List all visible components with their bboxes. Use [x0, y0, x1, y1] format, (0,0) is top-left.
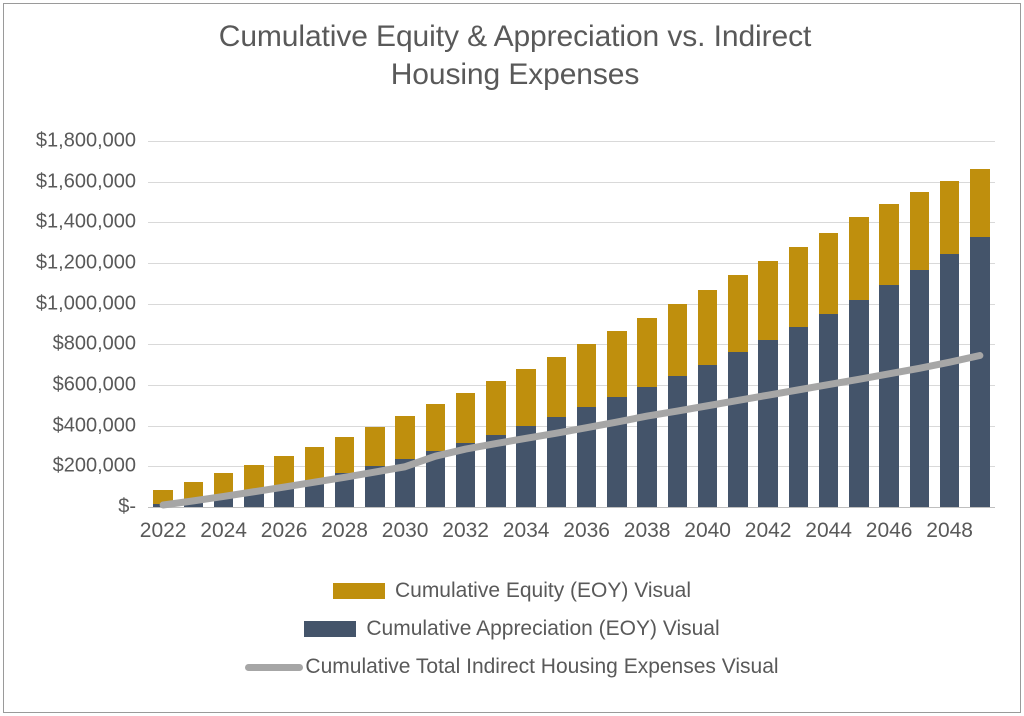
y-axis-tick-label: $- — [0, 496, 136, 519]
y-axis: $-$200,000$400,000$600,000$800,000$1,000… — [0, 141, 136, 507]
y-axis-tick-label: $600,000 — [0, 374, 136, 397]
x-axis-tick-label: 2044 — [805, 519, 852, 543]
x-axis-tick-label: 2032 — [442, 519, 489, 543]
x-axis-tick-label: 2034 — [503, 519, 550, 543]
y-axis-tick-label: $800,000 — [0, 333, 136, 356]
gridline — [148, 507, 995, 508]
plot-area — [148, 141, 995, 507]
legend-item[interactable]: Cumulative Appreciation (EOY) Visual — [0, 610, 1024, 648]
x-axis-tick-label: 2024 — [200, 519, 247, 543]
x-axis-tick-label: 2030 — [382, 519, 429, 543]
x-axis-tick-label: 2042 — [745, 519, 792, 543]
expense-line[interactable] — [163, 356, 980, 505]
chart-legend: Cumulative Equity (EOY) VisualCumulative… — [0, 572, 1024, 686]
y-axis-tick-label: $1,400,000 — [0, 211, 136, 234]
x-axis-tick-label: 2038 — [624, 519, 671, 543]
x-axis: 2022202420262028203020322034203620382040… — [148, 519, 995, 553]
x-axis-tick-label: 2046 — [866, 519, 913, 543]
y-axis-tick-label: $1,000,000 — [0, 292, 136, 315]
legend-color-swatch-icon — [304, 621, 356, 637]
y-axis-tick-label: $400,000 — [0, 414, 136, 437]
legend-color-swatch-icon — [333, 583, 385, 599]
y-axis-tick-label: $1,800,000 — [0, 130, 136, 153]
legend-line-swatch-icon — [245, 664, 303, 671]
x-axis-tick-label: 2036 — [563, 519, 610, 543]
legend-item[interactable]: Cumulative Total Indirect Housing Expens… — [0, 648, 1024, 686]
legend-item-label: Cumulative Total Indirect Housing Expens… — [305, 655, 778, 679]
y-axis-tick-label: $1,200,000 — [0, 252, 136, 275]
y-axis-tick-label: $1,600,000 — [0, 170, 136, 193]
x-axis-tick-label: 2026 — [261, 519, 308, 543]
x-axis-tick-label: 2022 — [140, 519, 187, 543]
legend-item[interactable]: Cumulative Equity (EOY) Visual — [0, 572, 1024, 610]
expense-line-svg — [148, 141, 995, 507]
x-axis-tick-label: 2040 — [684, 519, 731, 543]
chart-container: Cumulative Equity & Appreciation vs. Ind… — [0, 0, 1024, 716]
expense-line-layer — [148, 141, 995, 507]
x-axis-tick-label: 2028 — [321, 519, 368, 543]
chart-title: Cumulative Equity & Appreciation vs. Ind… — [120, 18, 910, 94]
y-axis-tick-label: $200,000 — [0, 455, 136, 478]
x-axis-tick-label: 2048 — [926, 519, 973, 543]
legend-item-label: Cumulative Equity (EOY) Visual — [395, 579, 691, 603]
legend-item-label: Cumulative Appreciation (EOY) Visual — [366, 617, 719, 641]
